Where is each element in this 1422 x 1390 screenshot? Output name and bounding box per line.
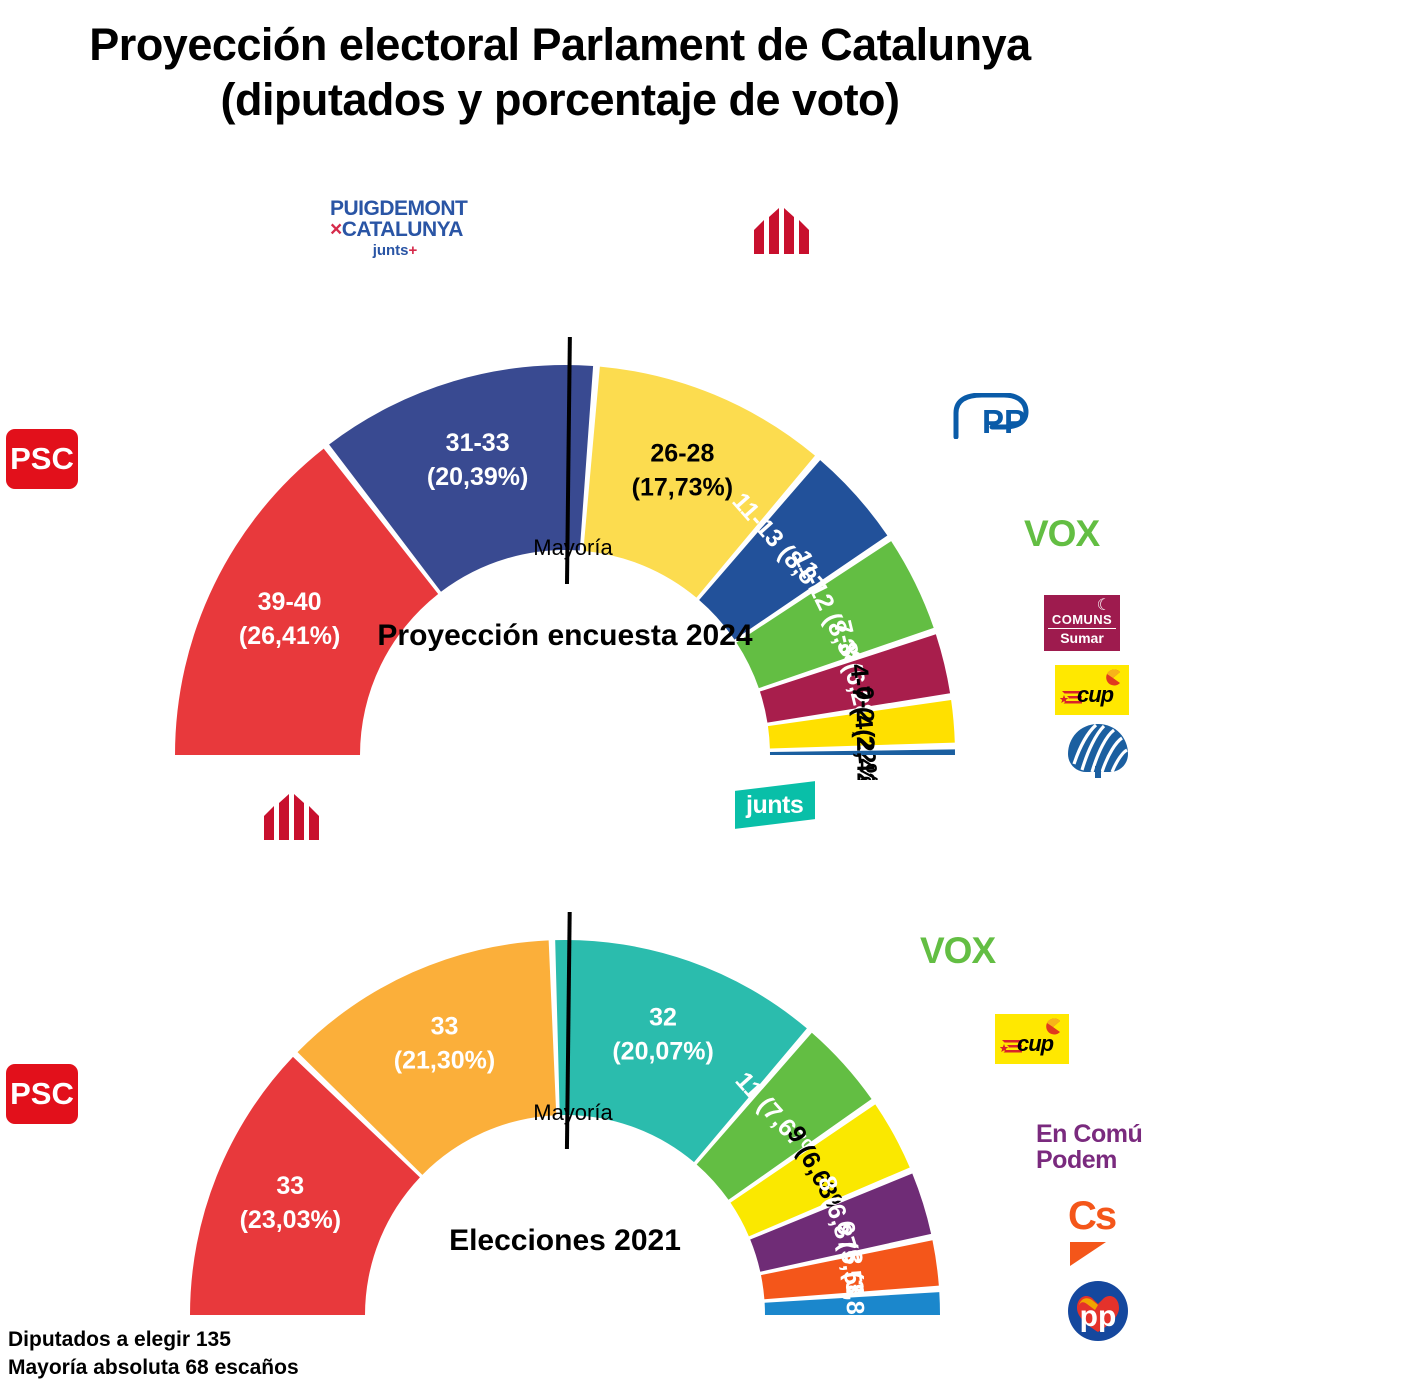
logo-erc-icon — [748, 208, 816, 254]
logo-vox-text: VOX — [1024, 513, 1099, 554]
title-line-1: Proyección electoral Parlament de Catalu… — [89, 19, 1030, 70]
arc-label: 0-2 (2,42%) — [850, 686, 880, 780]
logo-psc-2021: PSC — [6, 1064, 78, 1124]
arc-label: (21,30%) — [394, 1046, 495, 1074]
logo-cup-2024: cup — [1055, 665, 1129, 715]
logo-comuns-line2: Sumar — [1048, 628, 1116, 646]
logo-vox-2021: VOX — [920, 930, 995, 972]
footnote: Diputados a elegir 135 Mayoría absoluta … — [8, 1326, 299, 1381]
logo-cup-2021-text: cup — [1017, 1031, 1053, 1057]
arc-label: 32 — [649, 1003, 677, 1031]
arc-label: 31-33 — [446, 429, 510, 457]
cs-triangle-icon — [1070, 1242, 1114, 1268]
logo-junts-x: × — [330, 218, 342, 241]
arc-label: (23,03%) — [240, 1206, 341, 1234]
logo-psc-2021-text: PSC — [10, 1076, 74, 1112]
majority-label: Mayoría — [533, 1100, 613, 1125]
arc-label-group: 0-2 (2,42%) — [850, 686, 880, 780]
semicircle-chart-2024-svg: 39-40(26,41%)31-33(20,39%)26-28(17,73%)1… — [0, 180, 1422, 780]
logo-encomu-line2: Podem — [1036, 1148, 1142, 1174]
logo-junts-catalunya: CATALUNYA — [342, 218, 463, 241]
logo-psc-2024: PSC — [6, 429, 78, 489]
arc-label: 3 (3,85%) — [839, 1250, 871, 1330]
logo-cs-text-wrap: Cs — [1068, 1198, 1148, 1234]
footnote-line-2: Mayoría absoluta 68 escaños — [8, 1354, 299, 1382]
title-line-2: (diputados y porcentaje de voto) — [0, 73, 1120, 128]
logo-junts-word: junts — [373, 242, 409, 259]
logo-junts-line3: junts+ — [330, 241, 460, 261]
logo-comuns-line1: COMUNS — [1048, 612, 1116, 627]
logo-junts-line2: ×CATALUNYA — [330, 219, 460, 240]
chart-proyeccion-2024: 39-40(26,41%)31-33(20,39%)26-28(17,73%)1… — [0, 180, 1422, 780]
chart-center-title: Proyección encuesta 2024 — [377, 619, 753, 652]
logo-cup-text: cup — [1077, 682, 1113, 708]
arc-label: 33 — [276, 1172, 304, 1200]
arc-label: (26,41%) — [239, 622, 340, 650]
svg-text:PP: PP — [982, 403, 1026, 439]
logo-vox-2021-text: VOX — [920, 930, 995, 971]
logo-vox-2024: VOX — [1024, 513, 1099, 555]
arc-label: 33 — [431, 1012, 459, 1040]
comuns-moon-icon: ☾ — [1048, 599, 1116, 612]
arc-label: (17,73%) — [632, 474, 733, 502]
logo-pp-icon-2024: PP — [952, 393, 1030, 439]
logo-cup-2021: cup — [995, 1014, 1069, 1064]
arc-label: (20,39%) — [427, 463, 528, 491]
arc-label-group: 3 (3,85%) — [839, 1250, 871, 1330]
logo-junts-line1: PUIGDEMONT — [330, 198, 460, 219]
page-title: Proyección electoral Parlament de Catalu… — [0, 18, 1120, 128]
logo-cs-text: Cs — [1068, 1194, 1115, 1238]
logo-psc-text: PSC — [10, 441, 74, 477]
logo-erc-icon-2021 — [258, 794, 326, 840]
arc-label: (20,07%) — [612, 1037, 713, 1065]
semicircle-chart-2021-svg: 33(23,03%)33(21,30%)32(20,07%)11 (7,67%)… — [0, 770, 1422, 1330]
logo-junts21-text: junts — [746, 791, 803, 820]
chart-center-title: Elecciones 2021 — [449, 1224, 681, 1257]
logo-ciudadanos: Cs — [1068, 1198, 1148, 1266]
chart-elecciones-2021: 33(23,03%)33(21,30%)32(20,07%)11 (7,67%)… — [0, 770, 1422, 1330]
footnote-line-1: Diputados a elegir 135 — [8, 1326, 299, 1354]
logo-en-comu-podem: En Comú Podem — [1036, 1122, 1142, 1173]
arc-label: 26-28 — [650, 440, 714, 468]
svg-text:pp: pp — [1080, 1300, 1117, 1333]
logo-encomu-line1: En Comú — [1036, 1122, 1142, 1148]
majority-label: Mayoría — [533, 535, 613, 560]
logo-comuns-sumar: ☾ COMUNS Sumar — [1044, 595, 1120, 651]
logo-junts-plus: + — [409, 242, 418, 259]
arc-label: 39-40 — [258, 588, 322, 616]
logo-pp-icon-2021: pp — [1067, 1280, 1129, 1342]
logo-junts-puigdemont: PUIGDEMONT ×CATALUNYA junts+ — [330, 198, 460, 260]
